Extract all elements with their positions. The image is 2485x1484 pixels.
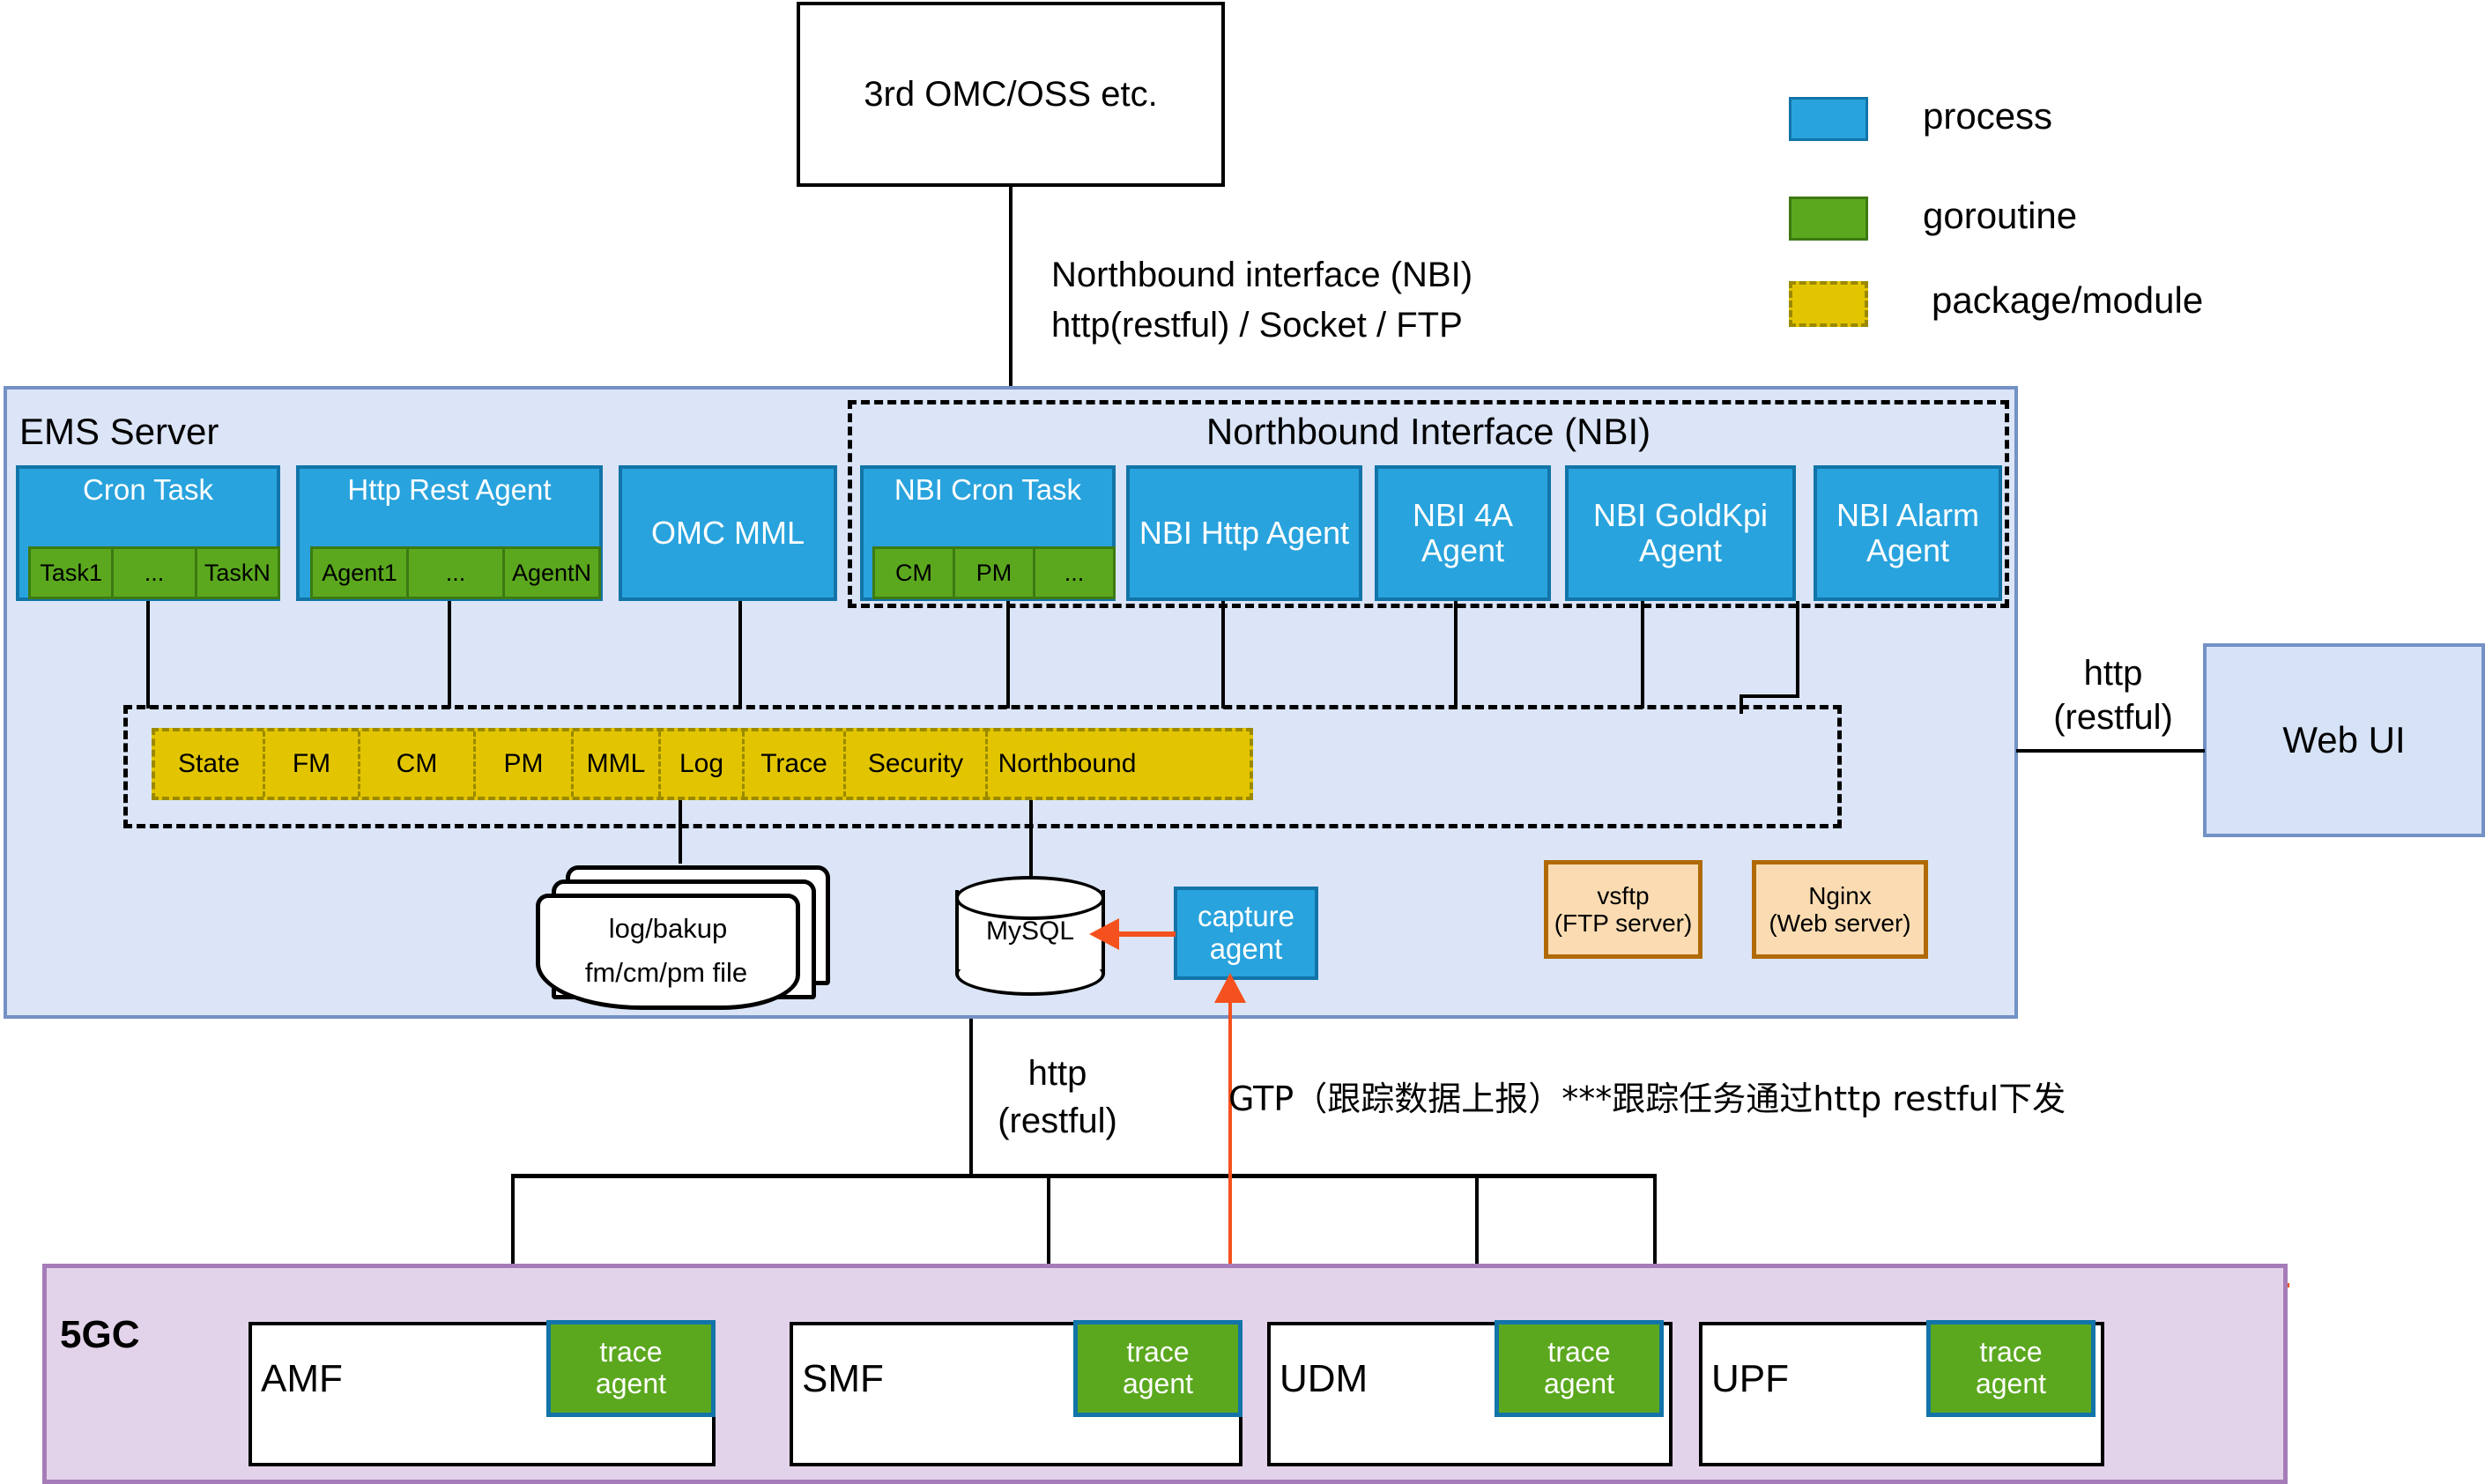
nf-amf-label: AMF xyxy=(261,1357,343,1401)
process-nbi-4a-agent[interactable]: NBI 4A Agent xyxy=(1375,465,1551,601)
process-capture-agent[interactable]: capture agent xyxy=(1174,887,1318,980)
legend: process goroutine package/module xyxy=(1789,88,2353,335)
connector-to-mysql xyxy=(1029,800,1033,881)
process-omc-mml[interactable]: OMC MML xyxy=(619,465,837,601)
module-mml[interactable]: MML xyxy=(574,731,661,797)
server-nginx-label: Nginx(Web server) xyxy=(1769,882,1910,938)
file-stack-label-line1: log/bakup xyxy=(536,913,800,945)
module-trace[interactable]: Trace xyxy=(745,731,846,797)
module-log[interactable]: Log xyxy=(661,731,745,797)
web-ui-label: Web UI xyxy=(2282,719,2405,761)
server-vsftp-label: vsftp(FTP server) xyxy=(1554,882,1693,938)
process-nbi-cron-task[interactable]: NBI Cron Task CM PM ... xyxy=(860,465,1116,601)
legend-label-process: process xyxy=(1923,95,2052,137)
ems-to-5gc-http-trunk xyxy=(969,1019,973,1177)
process-nbi-alarm-agent-title: NBI Alarm Agent xyxy=(1822,498,1993,569)
connector-cron-task xyxy=(146,601,150,709)
trace-agent-amf[interactable]: traceagent xyxy=(546,1320,716,1417)
connector-http-rest-agent xyxy=(448,601,451,709)
legend-swatch-process xyxy=(1789,97,1868,141)
goroutine-cell[interactable]: AgentN xyxy=(505,549,598,597)
process-nbi-http-agent-title: NBI Http Agent xyxy=(1139,516,1349,551)
connector-nbi-alarm-agent-elbow xyxy=(1739,694,1799,698)
connector-nbi-alarm-agent-upper xyxy=(1796,601,1799,698)
gtp-uplink-arrowhead xyxy=(1213,973,1248,1005)
file-stack-front xyxy=(536,894,800,1010)
server-nginx[interactable]: Nginx(Web server) xyxy=(1752,860,1928,959)
northbound-interface-group-title: Northbound Interface (NBI) xyxy=(848,411,2009,453)
webui-link-label-line2: (restful) xyxy=(2027,698,2199,738)
trace-agent-upf[interactable]: traceagent xyxy=(1926,1320,2096,1417)
third-party-oss-box: 3rd OMC/OSS etc. xyxy=(797,2,1225,187)
goroutine-strip-cron-task: Task1 ... TaskN xyxy=(28,546,280,599)
http-trunk-label-line2: (restful) xyxy=(978,1102,1137,1141)
legend-swatch-goroutine xyxy=(1789,197,1868,241)
module-pm[interactable]: PM xyxy=(476,731,574,797)
connector-nbi-cron-task xyxy=(1006,601,1010,709)
nbi-protocol-label-line2: http(restful) / Socket / FTP xyxy=(1051,306,1463,345)
process-http-rest-agent-title: Http Rest Agent xyxy=(300,474,599,506)
legend-label-goroutine: goroutine xyxy=(1923,195,2077,237)
nf-smf-label: SMF xyxy=(802,1357,884,1401)
goroutine-strip-http-rest-agent: Agent1 ... AgentN xyxy=(310,546,601,599)
trace-agent-udm-label: traceagent xyxy=(1544,1337,1614,1400)
mysql-label: MySQL xyxy=(955,916,1105,946)
process-cron-task[interactable]: Cron Task Task1 ... TaskN xyxy=(16,465,280,601)
trace-agent-amf-label: traceagent xyxy=(596,1337,666,1400)
connector-log-to-file-stack xyxy=(679,800,682,864)
capture-to-mysql-arrowhead xyxy=(1089,916,1119,952)
process-nbi-alarm-agent[interactable]: NBI Alarm Agent xyxy=(1814,465,2002,601)
http-trunk-label-line1: http xyxy=(978,1054,1137,1094)
process-nbi-http-agent[interactable]: NBI Http Agent xyxy=(1126,465,1362,601)
process-nbi-4a-agent-title: NBI 4A Agent xyxy=(1385,498,1540,569)
ems-server-title: EMS Server xyxy=(19,411,219,453)
goroutine-cell[interactable]: PM xyxy=(955,549,1035,597)
oss-to-ems-connector xyxy=(1009,187,1013,388)
process-omc-mml-title: OMC MML xyxy=(651,516,805,551)
5gc-distribution-bus xyxy=(511,1174,1657,1178)
trace-agent-udm[interactable]: traceagent xyxy=(1495,1320,1664,1417)
trace-agent-upf-label: traceagent xyxy=(1976,1337,2046,1400)
connector-nbi-http-agent xyxy=(1221,601,1225,709)
module-fm[interactable]: FM xyxy=(265,731,360,797)
nf-udm-label: UDM xyxy=(1280,1357,1368,1401)
connector-nbi-4a-agent xyxy=(1454,601,1458,709)
process-nbi-goldkpi-agent-title: NBI GoldKpi Agent xyxy=(1574,498,1787,569)
goroutine-cell[interactable]: CM xyxy=(875,549,955,597)
module-bar: State FM CM PM MML Log Trace Security No… xyxy=(152,728,1253,800)
trace-agent-smf[interactable]: traceagent xyxy=(1073,1320,1242,1417)
fivegc-title: 5GC xyxy=(60,1313,139,1357)
module-northbound[interactable]: Northbound xyxy=(988,731,1146,797)
trace-agent-smf-label: traceagent xyxy=(1123,1337,1193,1400)
process-capture-agent-label: capture agent xyxy=(1198,901,1294,966)
nbi-protocol-label-line1: Northbound interface (NBI) xyxy=(1051,256,1472,295)
goroutine-cell[interactable]: Agent1 xyxy=(313,549,409,597)
gtp-note: GTP（跟踪数据上报）***跟踪任务通过http restful下发 xyxy=(1214,1072,2066,1120)
nf-upf-label: UPF xyxy=(1711,1357,1789,1401)
web-ui-box[interactable]: Web UI xyxy=(2203,643,2485,837)
goroutine-cell[interactable]: TaskN xyxy=(197,549,278,597)
connector-omc-mml xyxy=(738,601,742,709)
connector-nbi-goldkpi-agent xyxy=(1641,601,1644,709)
module-cm[interactable]: CM xyxy=(360,731,476,797)
process-http-rest-agent[interactable]: Http Rest Agent Agent1 ... AgentN xyxy=(296,465,603,601)
webui-link-label-line1: http xyxy=(2027,654,2199,694)
process-cron-task-title: Cron Task xyxy=(19,474,277,506)
goroutine-strip-nbi-cron-task: CM PM ... xyxy=(872,546,1116,599)
mysql-cylinder-top xyxy=(955,876,1105,920)
module-state[interactable]: State xyxy=(155,731,265,797)
legend-label-package-module: package/module xyxy=(1932,279,2203,322)
module-security[interactable]: Security xyxy=(846,731,988,797)
process-nbi-cron-task-title: NBI Cron Task xyxy=(864,474,1112,506)
process-nbi-goldkpi-agent[interactable]: NBI GoldKpi Agent xyxy=(1565,465,1796,601)
file-stack-label-line2: fm/cm/pm file xyxy=(529,957,804,989)
legend-swatch-package-module xyxy=(1789,281,1868,327)
goroutine-cell[interactable]: ... xyxy=(1035,549,1113,597)
goroutine-cell[interactable]: ... xyxy=(114,549,197,597)
goroutine-cell[interactable]: Task1 xyxy=(31,549,114,597)
ems-to-webui-connector xyxy=(2016,749,2205,753)
third-party-oss-label: 3rd OMC/OSS etc. xyxy=(864,75,1157,115)
goroutine-cell[interactable]: ... xyxy=(409,549,505,597)
server-vsftp[interactable]: vsftp(FTP server) xyxy=(1544,860,1702,959)
